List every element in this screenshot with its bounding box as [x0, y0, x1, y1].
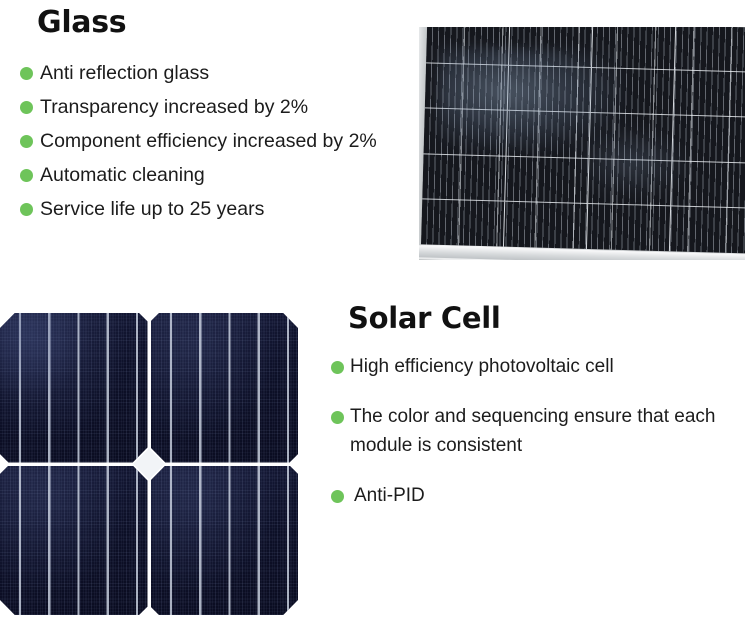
glass-feature-item-1: Anti reflection glass	[0, 56, 420, 90]
solar-cell-feature-text-2: The color and sequencing ensure that eac…	[350, 402, 745, 460]
bullet-dot-icon	[20, 135, 33, 148]
module-laminate-area	[421, 27, 745, 254]
glass-feature-text-2: Transparency increased by 2%	[40, 90, 420, 124]
glass-feature-item-2: Transparency increased by 2%	[0, 90, 420, 124]
glass-heading: Glass	[37, 4, 126, 42]
glass-feature-text-3: Component efficiency increased by 2%	[40, 124, 420, 158]
solar-cell-feature-text-1: High efficiency photovoltaic cell	[350, 352, 745, 381]
solar-cell-heading: Solar Cell	[348, 300, 501, 336]
module-glare-highlight-secondary	[575, 127, 690, 198]
glass-feature-list: Anti reflection glass Transparency incre…	[0, 56, 420, 226]
bullet-dot-icon	[331, 361, 344, 374]
solar-module-photo	[419, 27, 745, 260]
cell-busbar-lines	[0, 466, 148, 616]
bullet-dot-icon	[20, 67, 33, 80]
mono-cell-bottom-left	[0, 466, 148, 616]
glass-feature-item-3: Component efficiency increased by 2%	[0, 124, 420, 158]
bullet-dot-icon	[331, 411, 344, 424]
glass-feature-text-4: Automatic cleaning	[40, 158, 420, 192]
bullet-dot-icon	[20, 169, 33, 182]
cell-sheen	[0, 313, 89, 403]
mono-cell-top-left	[0, 313, 148, 463]
solar-cell-feature-list: High efficiency photovoltaic cell The co…	[310, 352, 745, 531]
solar-cell-feature-item-2: The color and sequencing ensure that eac…	[310, 402, 745, 460]
glass-feature-text-1: Anti reflection glass	[40, 56, 420, 90]
cell-busbar-lines	[151, 466, 299, 616]
solar-cells-photo	[0, 313, 298, 615]
mono-cell-top-right	[151, 313, 299, 463]
glass-feature-item-5: Service life up to 25 years	[0, 192, 420, 226]
solar-cell-section: Solar Cell High efficiency photovoltaic …	[310, 292, 745, 537]
bullet-dot-icon	[20, 203, 33, 216]
module-photo-canvas	[419, 27, 745, 260]
mono-cell-bottom-right	[151, 466, 299, 616]
product-feature-page: Glass Anti reflection glass Transparency…	[0, 0, 745, 623]
glass-section: Glass Anti reflection glass Transparency…	[0, 0, 420, 285]
solar-cell-feature-item-3: Anti-PID	[310, 481, 745, 510]
bullet-dot-icon	[331, 490, 344, 503]
cell-busbar-lines	[151, 313, 299, 463]
solar-cell-feature-item-1: High efficiency photovoltaic cell	[310, 352, 745, 381]
bullet-dot-icon	[20, 101, 33, 114]
glass-feature-item-4: Automatic cleaning	[0, 158, 420, 192]
glass-feature-text-5: Service life up to 25 years	[40, 192, 420, 226]
solar-cell-feature-text-3: Anti-PID	[350, 481, 745, 510]
